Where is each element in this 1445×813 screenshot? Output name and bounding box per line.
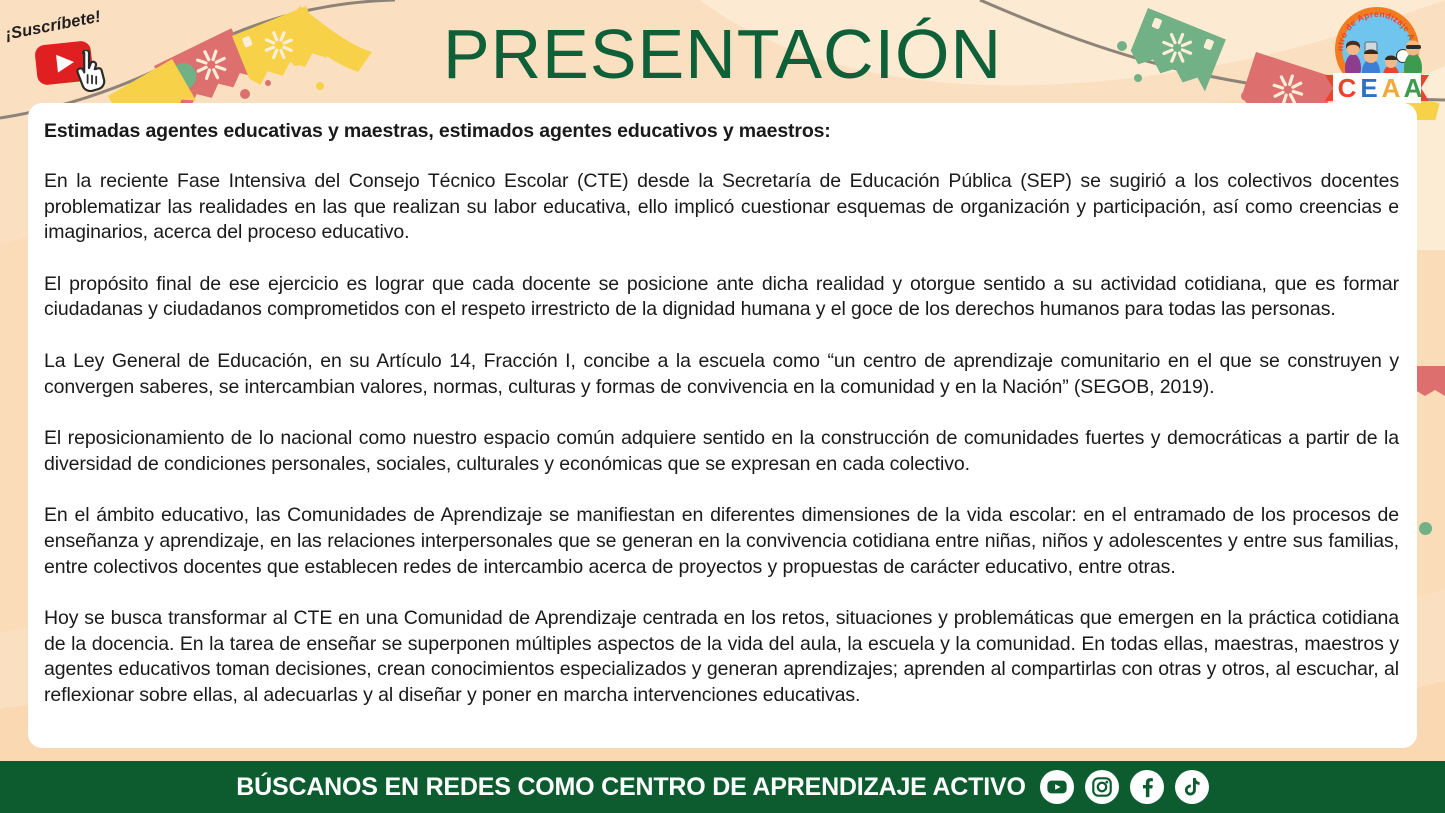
footer-bar: BÚSCANOS EN REDES COMO CENTRO DE APRENDI…: [0, 761, 1445, 813]
facebook-icon[interactable]: [1130, 770, 1164, 804]
body-paragraph-3: La Ley General de Educación, en su Artíc…: [44, 349, 1399, 400]
body-paragraph-1: En la reciente Fase Intensiva del Consej…: [44, 169, 1399, 246]
youtube-icon[interactable]: [1040, 770, 1074, 804]
body-paragraph-5: En el ámbito educativo, las Comunidades …: [44, 503, 1399, 580]
presentation-slide: ¡Suscríbete! Centro de Aprendizaje Activ…: [0, 0, 1445, 813]
body-paragraph-6: Hoy se busca transformar al CTE en una C…: [44, 606, 1399, 708]
social-links: [1040, 770, 1209, 804]
papel-dot-green-right: [1419, 522, 1432, 535]
body-paragraph-2: El propósito final de ese ejercicio es l…: [44, 272, 1399, 323]
tiktok-icon[interactable]: [1175, 770, 1209, 804]
instagram-icon[interactable]: [1085, 770, 1119, 804]
body-paragraph-4: El reposicionamiento de lo nacional como…: [44, 426, 1399, 477]
content-card: Estimadas agentes educativas y maestras,…: [28, 103, 1417, 748]
footer-text: BÚSCANOS EN REDES COMO CENTRO DE APRENDI…: [236, 773, 1025, 802]
lead-paragraph: Estimadas agentes educativas y maestras,…: [44, 120, 1399, 143]
page-title: PRESENTACIÓN: [0, 8, 1445, 100]
